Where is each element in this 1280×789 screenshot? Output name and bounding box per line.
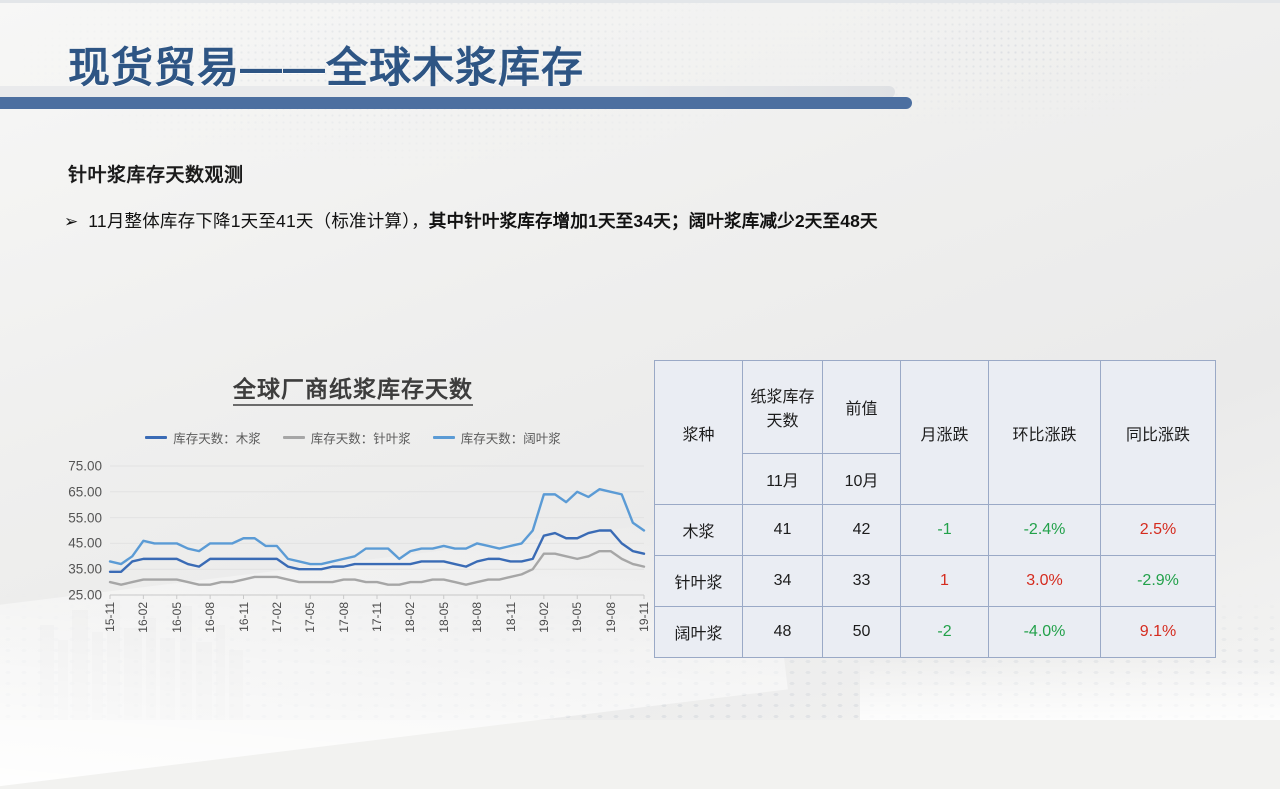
cell-prev-value: 42 — [823, 505, 901, 556]
x-axis-tick: 19-02 — [537, 602, 551, 633]
legend-label-wood-pulp: 库存天数：木浆 — [173, 428, 261, 447]
x-axis-labels: 15-1116-0216-0516-0816-1117-0217-0517-08… — [58, 458, 648, 518]
x-axis-tick: 17-08 — [337, 602, 351, 633]
legend-label-softwood-pulp: 库存天数：针叶浆 — [311, 428, 411, 447]
cell-yoy-change: 2.5% — [1101, 505, 1216, 556]
legend-swatch-softwood-pulp — [283, 436, 305, 439]
x-axis-tick: 19-11 — [637, 602, 651, 632]
x-axis-tick: 16-05 — [170, 602, 184, 633]
header-sub-current: 11月 — [743, 454, 823, 505]
cell-prev-value: 33 — [823, 556, 901, 607]
x-axis-tick: 16-02 — [136, 602, 150, 633]
cell-prev-value: 50 — [823, 607, 901, 658]
chart-title: 全球厂商纸浆库存天数 — [58, 370, 648, 404]
chart-plot-area: 75.0065.0055.0045.0035.0025.00 15-1116-0… — [58, 458, 648, 658]
header-month-change: 月涨跌 — [901, 361, 989, 505]
cell-month-change: -1 — [901, 505, 989, 556]
x-axis-tick: 17-05 — [303, 602, 317, 633]
cell-inventory-days: 34 — [743, 556, 823, 607]
table-row: 针叶浆343313.0%-2.9% — [655, 556, 1216, 607]
x-axis-tick: 18-11 — [504, 602, 518, 632]
x-axis-tick: 18-08 — [470, 602, 484, 633]
cell-yoy-change: 9.1% — [1101, 607, 1216, 658]
x-axis-tick: 15-11 — [103, 602, 117, 632]
bullet-text: 11月整体库存下降1天至41天（标准计算），其中针叶浆库存增加1天至34天；阔叶… — [88, 208, 878, 233]
x-axis-tick: 16-08 — [203, 602, 217, 633]
cell-pulp-type: 阔叶浆 — [655, 607, 743, 658]
bullet-text-bold: 其中针叶浆库存增加1天至34天；阔叶浆库减少2天至48天 — [429, 211, 878, 231]
legend-label-hardwood-pulp: 库存天数：阔叶浆 — [461, 428, 561, 447]
summary-table: 浆种纸浆库存天数前值月涨跌环比涨跌同比涨跌11月10月木浆4142-1-2.4%… — [654, 360, 1216, 658]
bullet-text-normal: 11月整体库存下降1天至41天（标准计算）， — [88, 211, 429, 231]
cell-mom-change: -4.0% — [989, 607, 1101, 658]
header-pulp-type: 浆种 — [655, 361, 743, 505]
legend-item-softwood-pulp: 库存天数：针叶浆 — [283, 428, 411, 447]
cell-pulp-type: 针叶浆 — [655, 556, 743, 607]
legend-item-wood-pulp: 库存天数：木浆 — [145, 428, 261, 447]
cell-pulp-type: 木浆 — [655, 505, 743, 556]
legend-item-hardwood-pulp: 库存天数：阔叶浆 — [433, 428, 561, 447]
cell-month-change: -2 — [901, 607, 989, 658]
header-mom-change: 环比涨跌 — [989, 361, 1101, 505]
x-axis-tick: 18-05 — [437, 602, 451, 633]
pulp-summary-table: 浆种纸浆库存天数前值月涨跌环比涨跌同比涨跌11月10月木浆4142-1-2.4%… — [654, 360, 1215, 658]
cell-inventory-days: 41 — [743, 505, 823, 556]
x-axis-tick: 19-05 — [570, 602, 584, 633]
pulp-inventory-chart: 全球厂商纸浆库存天数 库存天数：木浆 库存天数：针叶浆 库存天数：阔叶浆 75.… — [58, 370, 648, 660]
cell-mom-change: -2.4% — [989, 505, 1101, 556]
chart-title-text: 全球厂商纸浆库存天数 — [233, 376, 473, 406]
header-sub-prev: 10月 — [823, 454, 901, 505]
legend-swatch-hardwood-pulp — [433, 436, 455, 439]
bullet-item: ➢ 11月整体库存下降1天至41天（标准计算），其中针叶浆库存增加1天至34天；… — [64, 208, 878, 233]
x-axis-tick: 16-11 — [237, 602, 251, 632]
x-axis-tick: 17-11 — [370, 602, 384, 632]
chart-legend: 库存天数：木浆 库存天数：针叶浆 库存天数：阔叶浆 — [58, 428, 648, 447]
cell-month-change: 1 — [901, 556, 989, 607]
cell-yoy-change: -2.9% — [1101, 556, 1216, 607]
table-header-row-1: 浆种纸浆库存天数前值月涨跌环比涨跌同比涨跌 — [655, 361, 1216, 454]
x-axis-tick: 17-02 — [270, 602, 284, 633]
arrow-bullet-icon: ➢ — [64, 213, 78, 230]
x-axis-tick: 18-02 — [403, 602, 417, 633]
header-yoy-change: 同比涨跌 — [1101, 361, 1216, 505]
legend-swatch-wood-pulp — [145, 436, 167, 439]
header-inventory-days: 纸浆库存天数 — [743, 361, 823, 454]
cell-inventory-days: 48 — [743, 607, 823, 658]
table-row: 阔叶浆4850-2-4.0%9.1% — [655, 607, 1216, 658]
cell-mom-change: 3.0% — [989, 556, 1101, 607]
x-axis-tick: 19-08 — [604, 602, 618, 633]
header-accent-bar — [0, 97, 912, 109]
slide-header: 现货贸易——全球木浆库存 — [0, 0, 1280, 118]
table-row: 木浆4142-1-2.4%2.5% — [655, 505, 1216, 556]
header-prev-value: 前值 — [823, 361, 901, 454]
section-title: 针叶浆库存天数观测 — [68, 160, 244, 187]
light-sweep-right — [860, 660, 1280, 720]
page-title: 现货贸易——全球木浆库存 — [68, 34, 584, 95]
